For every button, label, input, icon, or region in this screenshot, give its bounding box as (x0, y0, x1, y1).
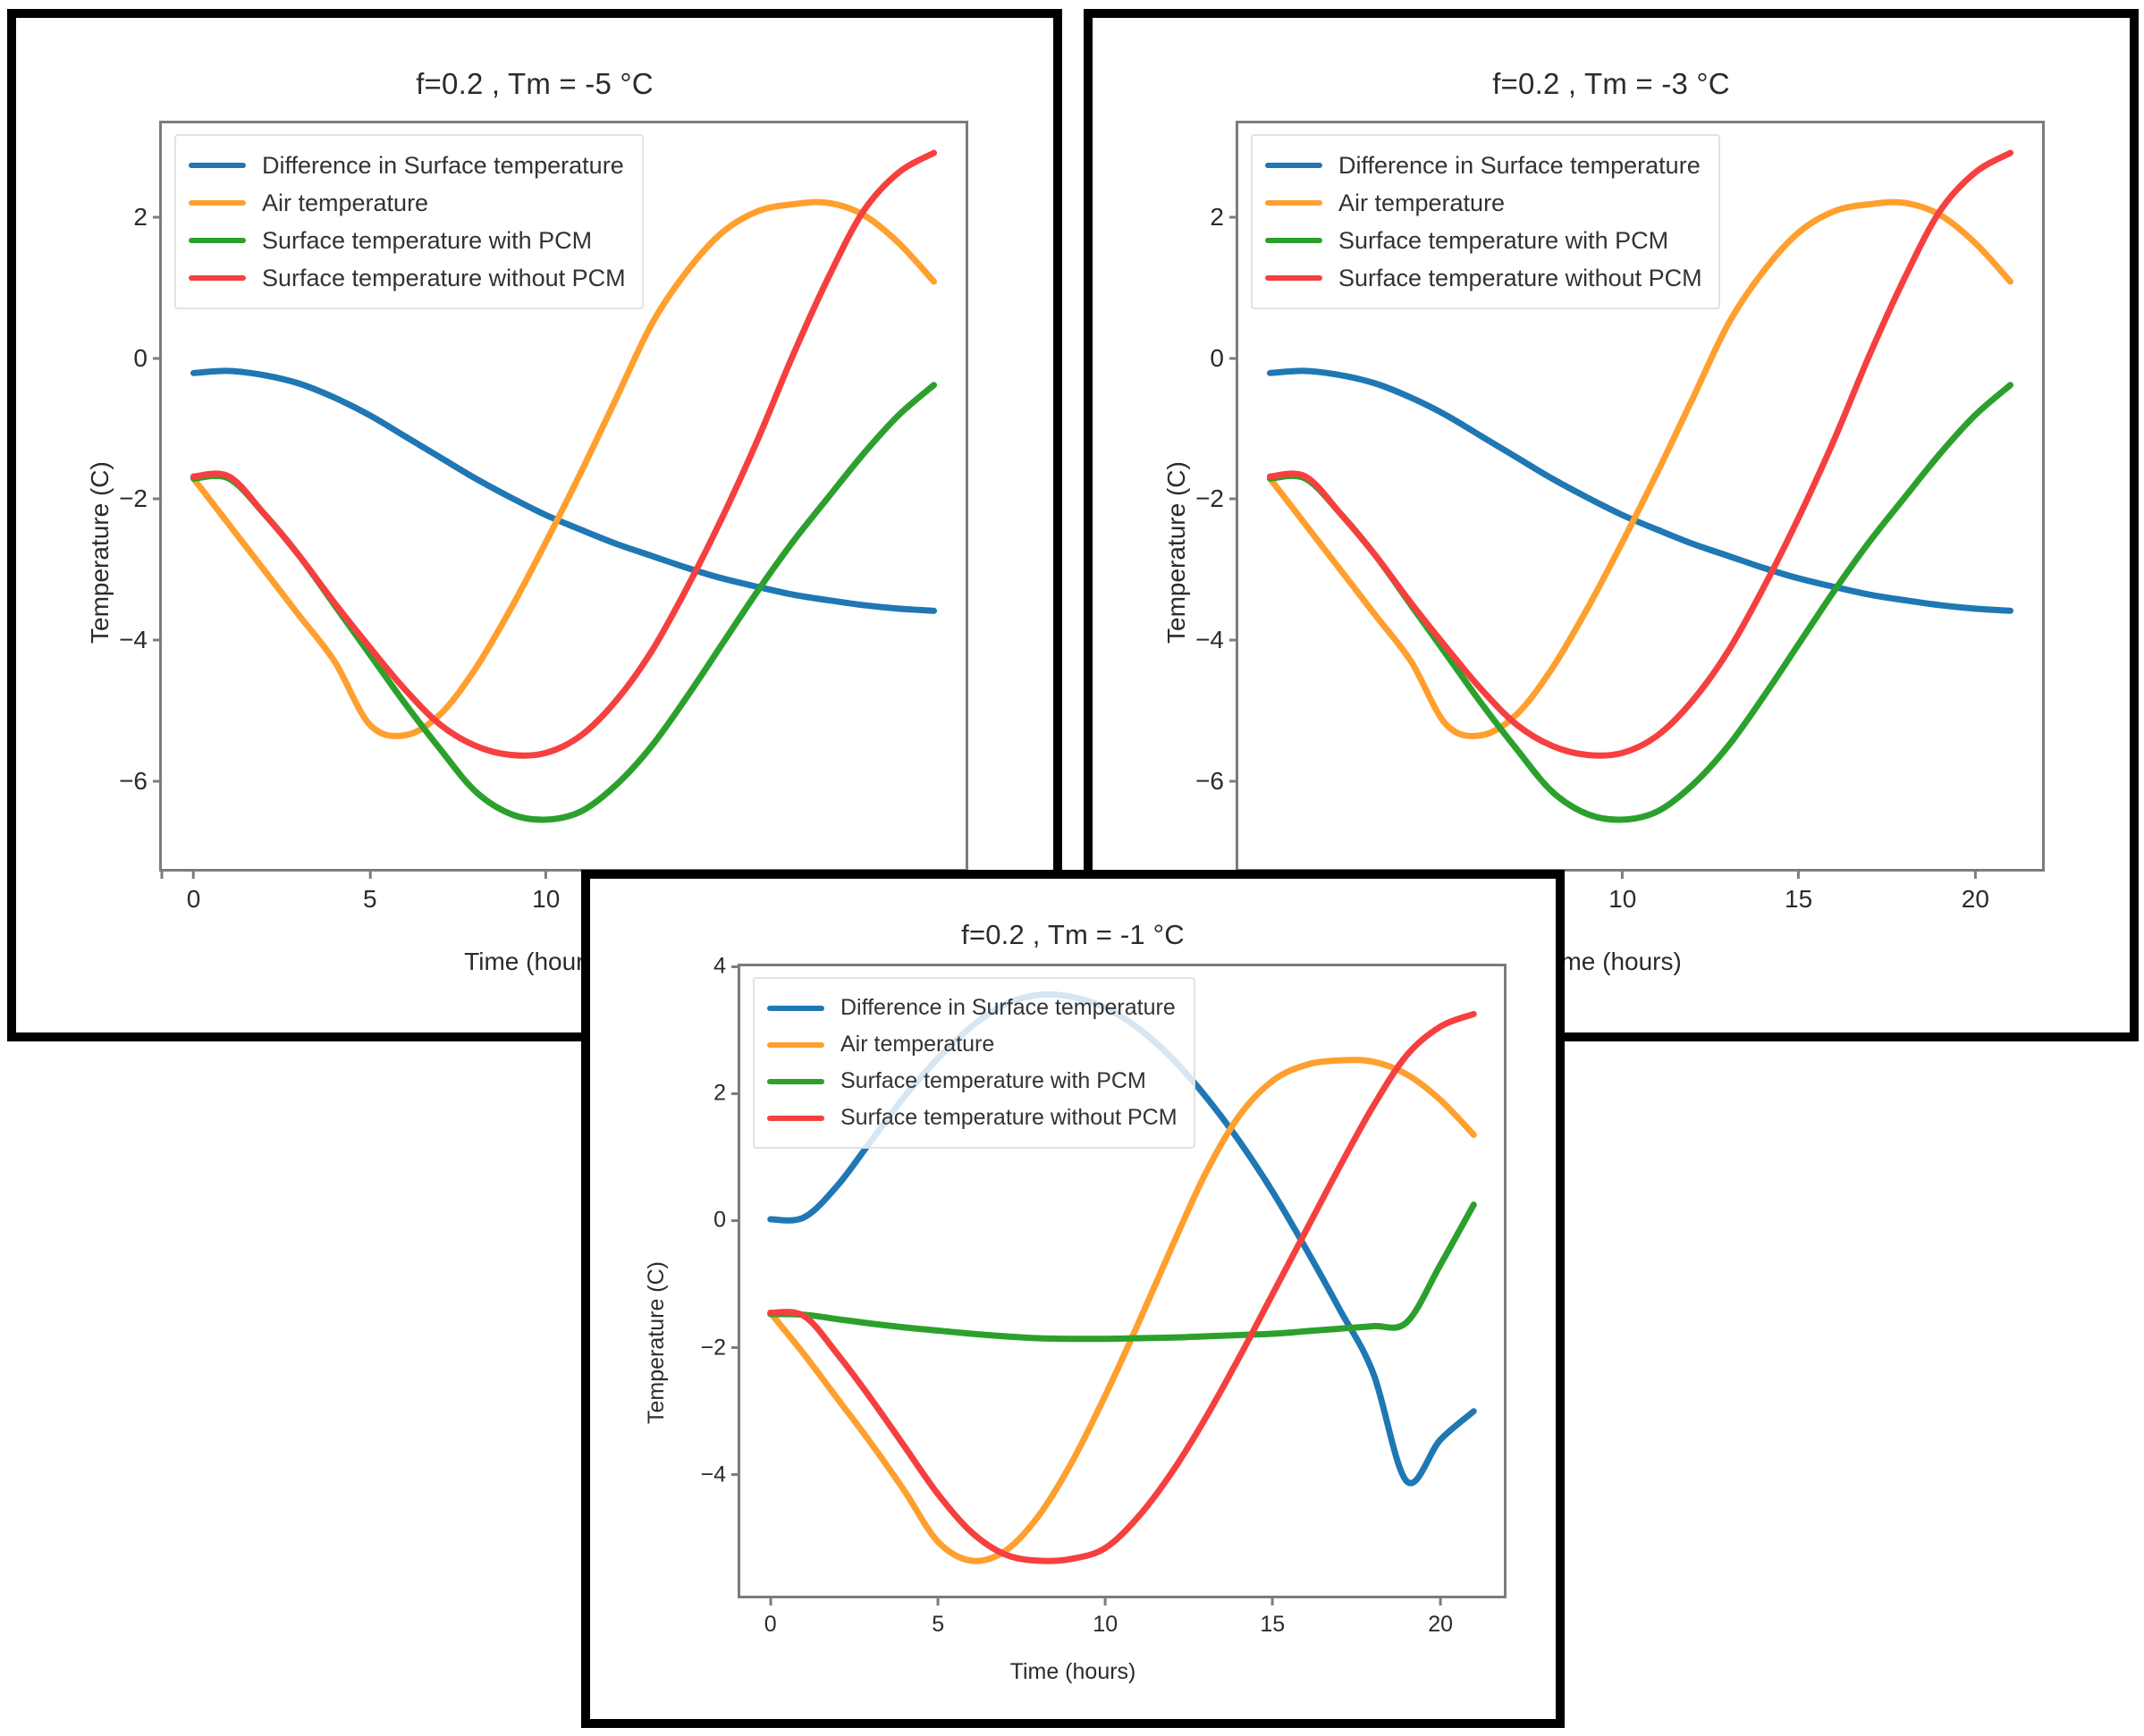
legend-swatch-blue-icon (767, 1006, 824, 1011)
legend-item-difference: Difference in Surface temperature (1265, 147, 1702, 184)
x-tick: 20 (1428, 1596, 1453, 1638)
legend-item-without-pcm: Surface temperature without PCM (189, 259, 626, 297)
legend-swatch-red-icon (767, 1116, 824, 1121)
y-axis-label: Temperature (C) (644, 1261, 670, 1424)
x-tick: 5 (363, 869, 377, 914)
legend-swatch-orange-icon (1265, 200, 1322, 206)
legend-swatch-red-icon (1265, 275, 1322, 281)
y-tick: 0 (713, 1208, 740, 1234)
x-tick: 10 (1608, 869, 1636, 914)
y-tick: 0 (1210, 344, 1238, 373)
y-tick: −4 (119, 626, 162, 654)
legend-label: Surface temperature with PCM (840, 1068, 1146, 1094)
y-tick: 2 (713, 1081, 740, 1107)
legend-swatch-orange-icon (767, 1042, 824, 1048)
panel-title: f=0.2 , Tm = -3 °C (1093, 67, 2130, 101)
legend-swatch-blue-icon (189, 163, 246, 168)
x-tick: 5 (932, 1596, 944, 1638)
y-tick: 0 (133, 344, 162, 373)
legend-item-difference: Difference in Surface temperature (767, 990, 1178, 1026)
legend-label: Difference in Surface temperature (840, 995, 1176, 1021)
figure-3: f=0.2 , Tm = -1 °C Temperature (C) Time … (590, 879, 1556, 1719)
y-axis-label: Temperature (C) (1162, 461, 1191, 644)
x-tick: 20 (1962, 869, 1989, 914)
y-tick: 4 (713, 954, 740, 980)
panel-title: f=0.2 , Tm = -5 °C (16, 67, 1053, 101)
legend-label: Surface temperature with PCM (1338, 227, 1668, 255)
legend-swatch-green-icon (767, 1079, 824, 1084)
legend-label: Surface temperature with PCM (262, 227, 592, 255)
x-tick: 15 (1260, 1596, 1285, 1638)
y-tick: −2 (700, 1335, 740, 1361)
legend-label: Surface temperature without PCM (262, 265, 626, 292)
legend-label: Surface temperature without PCM (840, 1105, 1178, 1131)
series-line (1270, 371, 2010, 611)
legend-item-with-pcm: Surface temperature with PCM (1265, 222, 1702, 259)
legend-label: Air temperature (1338, 190, 1505, 217)
legend-item-with-pcm: Surface temperature with PCM (767, 1063, 1178, 1100)
legend-swatch-blue-icon (1265, 163, 1322, 168)
legend-swatch-orange-icon (189, 200, 246, 206)
panel-title: f=0.2 , Tm = -1 °C (590, 919, 1556, 951)
legend-item-air: Air temperature (1265, 184, 1702, 222)
legend-item-without-pcm: Surface temperature without PCM (767, 1100, 1178, 1136)
legend-swatch-red-icon (189, 275, 246, 281)
legend-item-air: Air temperature (767, 1026, 1178, 1063)
y-tick: −6 (119, 767, 162, 796)
x-tick: 15 (1785, 869, 1812, 914)
x-tick: 10 (1093, 1596, 1118, 1638)
plot-area: 4 2 0 −2 −4 0 5 10 15 20 Difference in S… (738, 964, 1507, 1598)
legend-label: Difference in Surface temperature (262, 152, 624, 180)
y-axis-label: Temperature (C) (86, 461, 114, 644)
y-tick: 2 (133, 203, 162, 232)
legend-label: Surface temperature without PCM (1338, 265, 1702, 292)
chart-legend: Difference in Surface temperature Air te… (753, 977, 1195, 1149)
plot-area: 2 0 −2 −4 −6 0 5 10 15 20 Difference in … (159, 121, 968, 872)
legend-label: Air temperature (262, 190, 428, 217)
legend-item-air: Air temperature (189, 184, 626, 222)
chart-legend: Difference in Surface temperature Air te… (1251, 134, 1720, 309)
x-tick: 10 (532, 869, 560, 914)
plot-area: 2 0 −2 −4 −6 0 5 10 15 20 Difference in … (1236, 121, 2045, 872)
y-tick: 2 (1210, 203, 1238, 232)
legend-item-difference: Difference in Surface temperature (189, 147, 626, 184)
x-axis-label: Time (hours) (590, 1659, 1556, 1685)
legend-label: Difference in Surface temperature (1338, 152, 1701, 180)
chart-legend: Difference in Surface temperature Air te… (174, 134, 644, 309)
x-tick: 0 (764, 1596, 777, 1638)
x-tick: 0 (187, 869, 201, 914)
y-tick: −6 (1195, 767, 1238, 796)
legend-swatch-green-icon (189, 238, 246, 243)
y-tick: −4 (1195, 626, 1238, 654)
series-line (193, 371, 933, 611)
y-tick: −2 (1195, 485, 1238, 513)
legend-swatch-green-icon (1265, 238, 1322, 243)
legend-item-without-pcm: Surface temperature without PCM (1265, 259, 1702, 297)
legend-label: Air temperature (840, 1032, 994, 1058)
figure-panel-tm-minus-1: f=0.2 , Tm = -1 °C Temperature (C) Time … (581, 870, 1565, 1728)
y-tick: −2 (119, 485, 162, 513)
legend-item-with-pcm: Surface temperature with PCM (189, 222, 626, 259)
series-line (771, 1205, 1474, 1339)
y-tick: −4 (700, 1462, 740, 1487)
